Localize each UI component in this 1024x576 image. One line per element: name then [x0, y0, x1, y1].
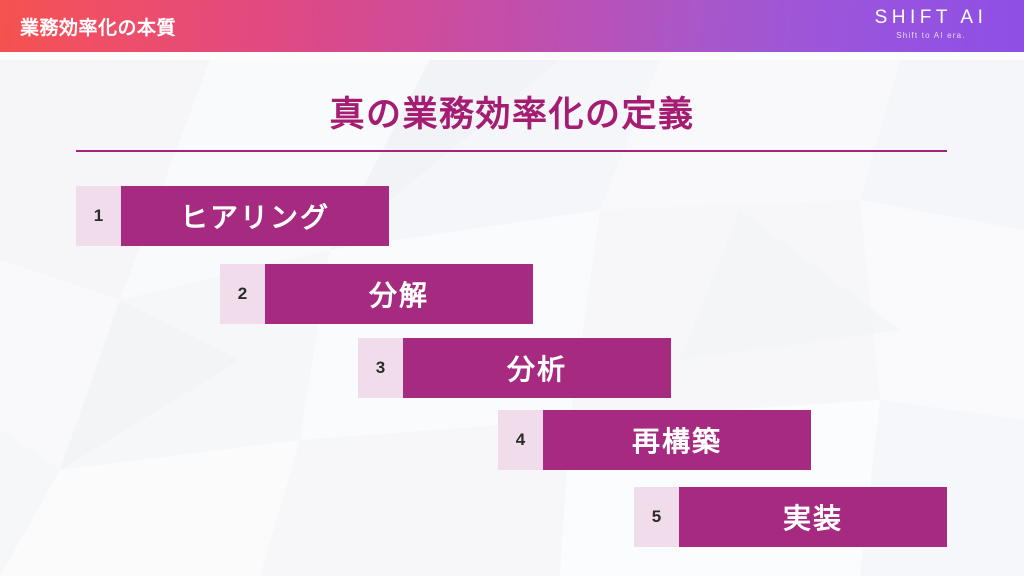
- step-label-bar: 分析: [403, 338, 671, 398]
- step-number-badge: 5: [634, 487, 679, 547]
- slide-root: 業務効率化の本質 SHIFT AI Shift to AI era. 真の業務効…: [0, 0, 1024, 576]
- step-number-badge: 1: [76, 186, 121, 246]
- logo-tagline: Shift to AI era.: [856, 30, 1006, 41]
- step-number-badge: 3: [358, 338, 403, 398]
- step-number-badge: 4: [498, 410, 543, 470]
- brand-logo: SHIFT AI Shift to AI era.: [856, 6, 1006, 48]
- step-row: 5 実装: [634, 487, 947, 547]
- step-label-bar: 再構築: [543, 410, 811, 470]
- logo-wordmark: SHIFT AI: [856, 6, 1006, 30]
- step-row: 1 ヒアリング: [76, 186, 389, 246]
- step-label-bar: 実装: [679, 487, 947, 547]
- step-row: 3 分析: [358, 338, 671, 398]
- step-row: 2 分解: [220, 264, 533, 324]
- step-staircase: 1 ヒアリング 2 分解 3 分析 4 再構築 5 実装: [0, 0, 1024, 576]
- header-title: 業務効率化の本質: [20, 0, 176, 52]
- header-bar: 業務効率化の本質 SHIFT AI Shift to AI era.: [0, 0, 1024, 52]
- step-label-bar: 分解: [265, 264, 533, 324]
- step-row: 4 再構築: [498, 410, 811, 470]
- step-number-badge: 2: [220, 264, 265, 324]
- step-label-bar: ヒアリング: [121, 186, 389, 246]
